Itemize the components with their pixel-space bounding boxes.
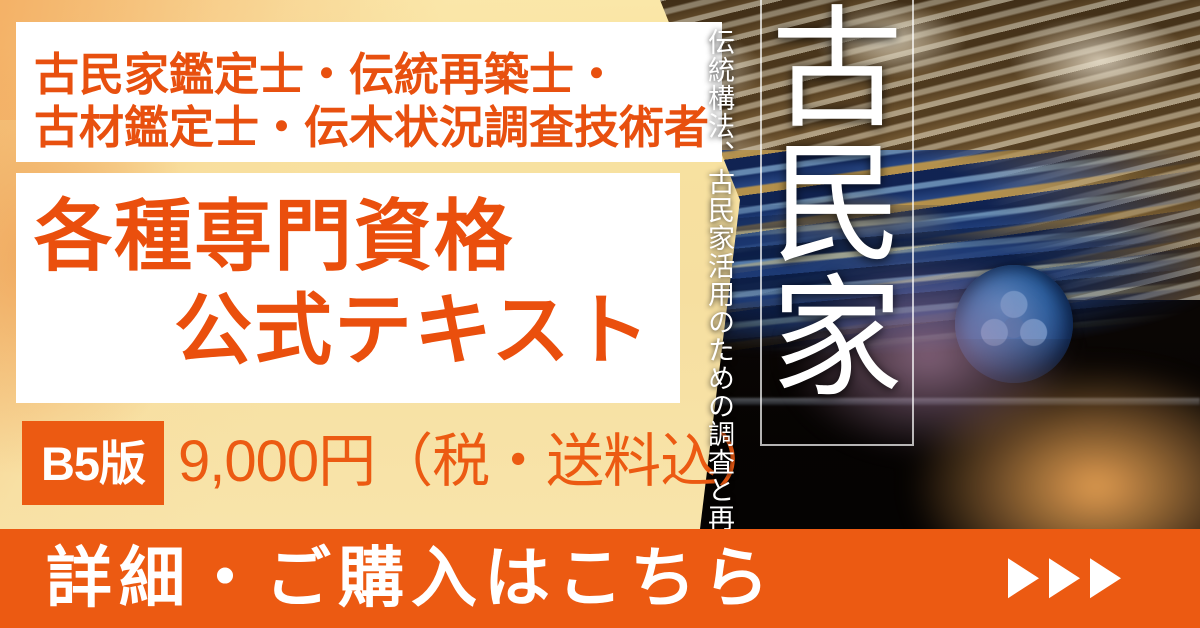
main-title-box: 各種専門資格 公式テキスト xyxy=(16,173,680,403)
cta-bar[interactable]: 詳細・ご購入はこちら xyxy=(0,529,1200,628)
qualifications-heading-box: 古民家鑑定士・伝統再築士・ 古材鑑定士・伝木状況調査技術者 xyxy=(16,22,722,162)
heading-line-1: 古民家鑑定士・伝統再築士・ xyxy=(34,52,619,97)
triangle-right-icon xyxy=(1090,558,1121,598)
triangle-right-icon xyxy=(1008,558,1039,598)
price-label: 9,000円（税・送料込） xyxy=(178,433,774,491)
book-cover-title-char-3: 家 xyxy=(771,273,903,408)
cta-arrows[interactable] xyxy=(1008,558,1121,598)
cta-label[interactable]: 詳細・ご購入はこちら xyxy=(46,544,776,610)
book-cover-title-char-2: 民 xyxy=(771,139,903,274)
main-title-line-2: 公式テキスト xyxy=(174,291,652,369)
format-badge-label: B5版 xyxy=(41,440,145,487)
promo-banner: 古 民 家 伝統構法、古民家活用のための調査と再生の 古民家鑑定士・伝統再築士・… xyxy=(0,0,1200,628)
triangle-right-icon xyxy=(1049,558,1080,598)
book-cover-title: 古 民 家 xyxy=(762,4,912,434)
main-title-line-1: 各種専門資格 xyxy=(34,197,514,275)
book-cover-title-char-1: 古 xyxy=(771,4,903,139)
heading-line-2: 古材鑑定士・伝木状況調査技術者 xyxy=(34,105,709,150)
format-badge: B5版 xyxy=(22,421,164,505)
